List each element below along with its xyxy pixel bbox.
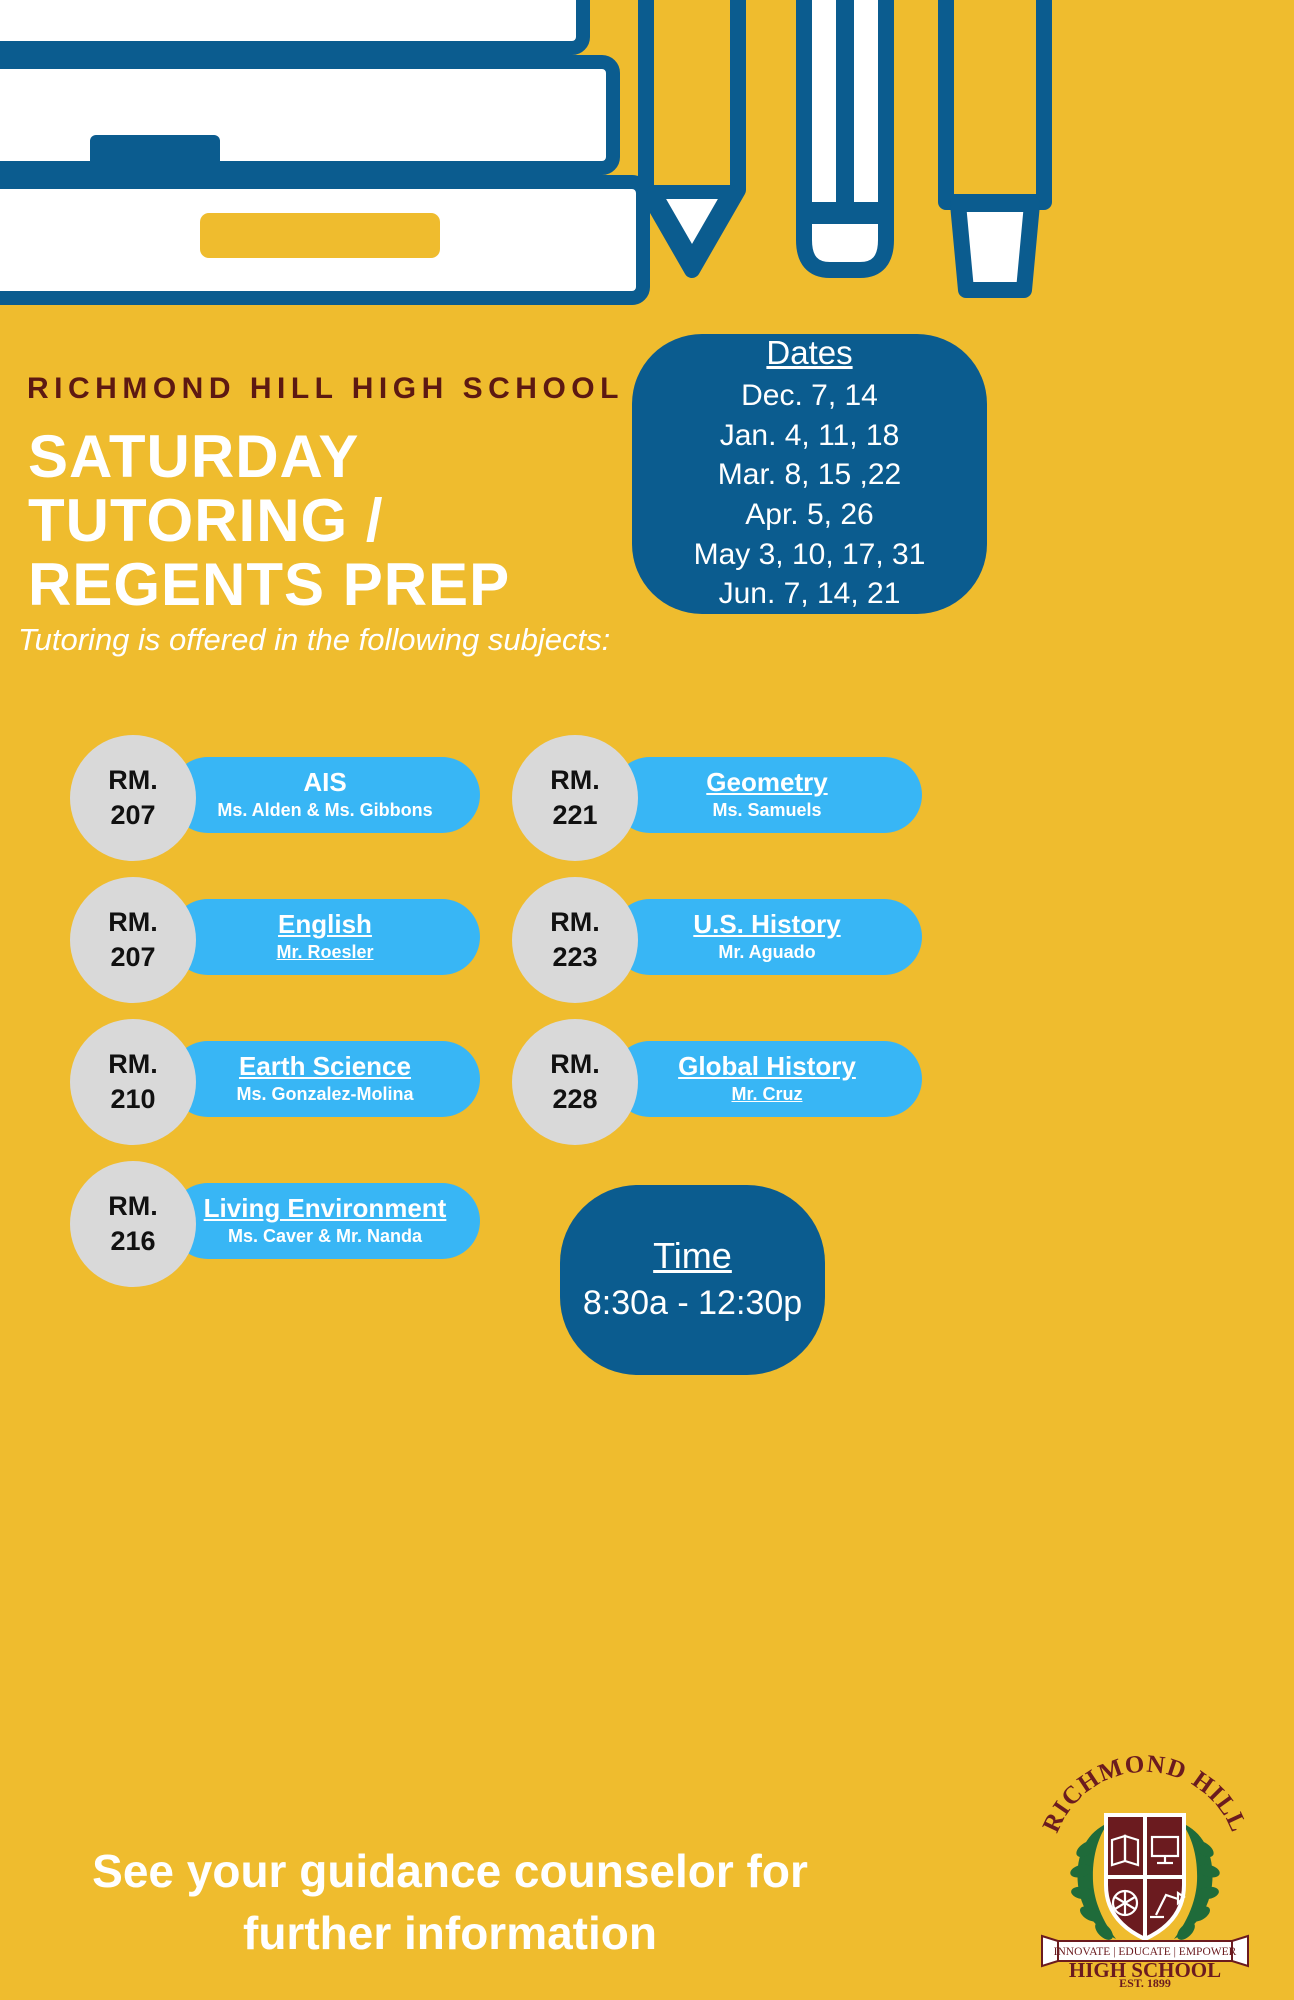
subject-name: Living Environment bbox=[204, 1194, 447, 1223]
subject-name: Global History bbox=[678, 1052, 856, 1081]
subject-teacher: Mr. Roesler bbox=[276, 941, 373, 964]
footer-callout: See your guidance counselor for further … bbox=[0, 1840, 900, 1964]
crest-banner-text: INNOVATE | EDUCATE | EMPOWER bbox=[1054, 1946, 1237, 1958]
room-number: 207 bbox=[110, 798, 155, 833]
subject-pill[interactable]: Global History Mr. Cruz bbox=[612, 1041, 922, 1117]
room-badge: RM. 207 bbox=[70, 877, 196, 1003]
title-line-1: SATURDAY bbox=[28, 425, 510, 489]
title-line-2: TUTORING / bbox=[28, 489, 510, 553]
room-label: RM. bbox=[108, 1047, 158, 1082]
dates-line: May 3, 10, 17, 31 bbox=[694, 535, 926, 575]
header-artwork bbox=[0, 0, 1294, 320]
room-number: 216 bbox=[110, 1224, 155, 1259]
subject-pill[interactable]: Earth Science Ms. Gonzalez-Molina bbox=[170, 1041, 480, 1117]
room-label: RM. bbox=[550, 763, 600, 798]
room-badge: RM. 228 bbox=[512, 1019, 638, 1145]
time-box-title: Time bbox=[653, 1235, 732, 1277]
room-badge: RM. 221 bbox=[512, 735, 638, 861]
room-label: RM. bbox=[550, 1047, 600, 1082]
room-badge: RM. 216 bbox=[70, 1161, 196, 1287]
room-number: 207 bbox=[110, 940, 155, 975]
subject-pill[interactable]: AIS Ms. Alden & Ms. Gibbons bbox=[170, 757, 480, 833]
time-box: Time 8:30a - 12:30p bbox=[560, 1185, 825, 1375]
footer-line-2: further information bbox=[0, 1902, 900, 1964]
subject-name: Geometry bbox=[706, 768, 827, 797]
subject-name: English bbox=[278, 910, 372, 939]
subject-pill[interactable]: U.S. History Mr. Aguado bbox=[612, 899, 922, 975]
school-name: RICHMOND HILL HIGH SCHOOL bbox=[27, 372, 624, 406]
book-bookmark-tab bbox=[90, 135, 220, 175]
subject-pill[interactable]: Geometry Ms. Samuels bbox=[612, 757, 922, 833]
room-number: 223 bbox=[552, 940, 597, 975]
subtitle: Tutoring is offered in the following sub… bbox=[18, 622, 610, 658]
crest-established-text: EST. 1899 bbox=[1030, 1976, 1260, 1991]
shield-icon bbox=[1106, 1815, 1184, 1939]
time-box-value: 8:30a - 12:30p bbox=[583, 1281, 802, 1326]
subject-name: U.S. History bbox=[693, 910, 840, 939]
subject-teacher: Mr. Aguado bbox=[718, 941, 815, 964]
subject-teacher: Ms. Caver & Mr. Nanda bbox=[228, 1225, 422, 1248]
room-number: 221 bbox=[552, 798, 597, 833]
room-label: RM. bbox=[108, 763, 158, 798]
poster-canvas: RICHMOND HILL HIGH SCHOOL SATURDAY TUTOR… bbox=[0, 0, 1294, 2000]
dates-line: Jun. 7, 14, 21 bbox=[719, 574, 901, 614]
dates-line: Apr. 5, 26 bbox=[745, 495, 873, 535]
subject-teacher: Ms. Alden & Ms. Gibbons bbox=[217, 799, 432, 822]
school-crest-logo: RICHMOND HILL bbox=[1030, 1745, 1260, 1980]
room-badge: RM. 207 bbox=[70, 735, 196, 861]
title-line-3: REGENTS PREP bbox=[28, 553, 510, 617]
pencil-icon bbox=[632, 0, 752, 310]
subject-name: Earth Science bbox=[239, 1052, 411, 1081]
subject-teacher: Ms. Gonzalez-Molina bbox=[236, 1083, 413, 1106]
room-label: RM. bbox=[550, 905, 600, 940]
marker-icon bbox=[930, 0, 1060, 320]
room-badge: RM. 210 bbox=[70, 1019, 196, 1145]
footer-line-1: See your guidance counselor for bbox=[92, 1845, 808, 1897]
pen-icon bbox=[790, 0, 900, 320]
room-label: RM. bbox=[108, 905, 158, 940]
dates-line: Dec. 7, 14 bbox=[741, 376, 878, 416]
room-number: 228 bbox=[552, 1082, 597, 1117]
subject-pill[interactable]: English Mr. Roesler bbox=[170, 899, 480, 975]
subject-pill[interactable]: Living Environment Ms. Caver & Mr. Nanda bbox=[170, 1183, 480, 1259]
book-label-band bbox=[200, 213, 440, 258]
page-title: SATURDAY TUTORING / REGENTS PREP bbox=[28, 425, 510, 618]
room-label: RM. bbox=[108, 1189, 158, 1224]
dates-line: Mar. 8, 15 ,22 bbox=[718, 455, 901, 495]
dates-box-title: Dates bbox=[766, 334, 852, 372]
dates-line: Jan. 4, 11, 18 bbox=[720, 416, 900, 456]
room-number: 210 bbox=[110, 1082, 155, 1117]
subject-teacher: Ms. Samuels bbox=[712, 799, 821, 822]
subject-name: AIS bbox=[303, 768, 346, 797]
book-top bbox=[0, 0, 590, 55]
subject-teacher: Mr. Cruz bbox=[731, 1083, 802, 1106]
room-badge: RM. 223 bbox=[512, 877, 638, 1003]
dates-box: Dates Dec. 7, 14 Jan. 4, 11, 18 Mar. 8, … bbox=[632, 334, 987, 614]
